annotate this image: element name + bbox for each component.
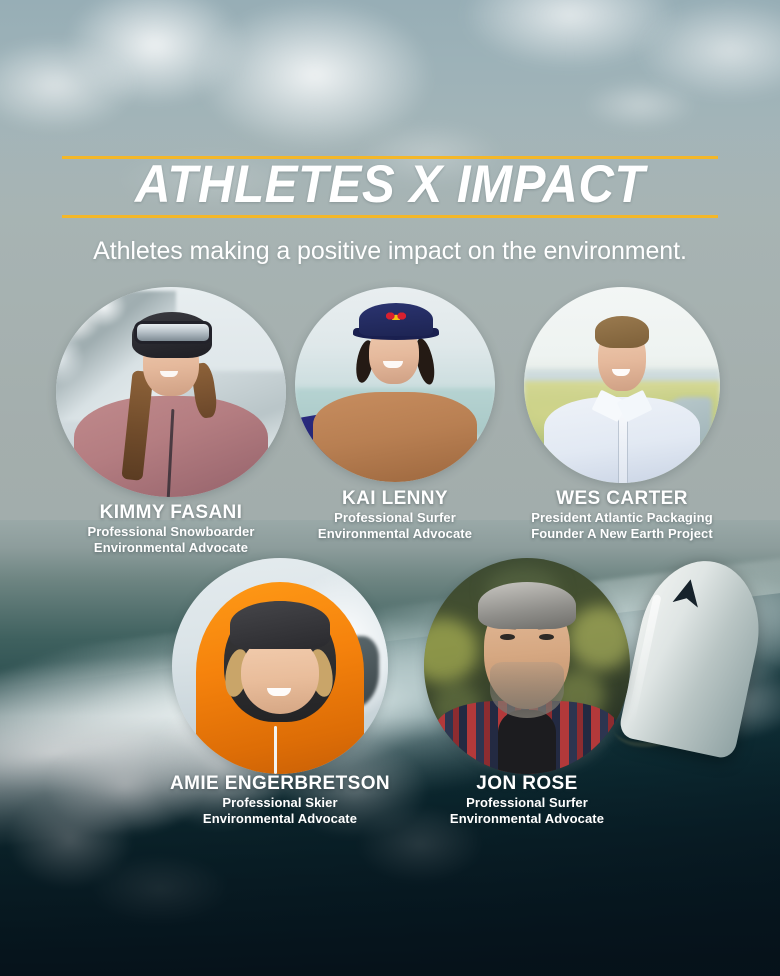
hair: [595, 316, 650, 347]
wave-deep-shadow: [0, 716, 780, 976]
athlete-caption: WES CARTER President Atlantic Packaging …: [457, 487, 780, 542]
athletes-x-impact-poster: ATHLETES X IMPACT Athletes making a posi…: [0, 0, 780, 976]
bokeh-light: [424, 618, 478, 683]
athlete-photo-kai-lenny: [295, 287, 495, 482]
athlete-caption: JON ROSE Professional Surfer Environment…: [362, 772, 692, 827]
athlete-role-line-2: Environmental Advocate: [6, 540, 336, 556]
beard: [490, 662, 564, 718]
athlete-photo-wes-carter: [524, 287, 720, 483]
avatar[interactable]: [56, 287, 286, 497]
header-rule-bottom: [62, 215, 718, 218]
athlete-photo-amie-engerbretson: [172, 558, 388, 774]
athlete-role-line-2: Founder A New Earth Project: [457, 526, 780, 542]
avatar[interactable]: [524, 287, 720, 483]
bokeh-light: [568, 606, 630, 671]
jacket-zipper: [274, 726, 277, 774]
page-title: ATHLETES X IMPACT: [27, 158, 752, 212]
athlete-role-line-1: President Atlantic Packaging: [457, 510, 780, 526]
athlete-card-wes-carter[interactable]: WES CARTER President Atlantic Packaging …: [524, 287, 720, 483]
athlete-name: JON ROSE: [362, 772, 692, 795]
eye-left: [500, 634, 514, 640]
torso: [313, 392, 477, 482]
hair: [478, 582, 577, 630]
athlete-name: WES CARTER: [457, 487, 780, 510]
page-subtitle: Athletes making a positive impact on the…: [0, 235, 780, 267]
avatar[interactable]: [172, 558, 388, 774]
athlete-role-line-1: Professional Surfer: [362, 795, 692, 811]
athlete-card-amie-engerbretson[interactable]: AMIE ENGERBRETSON Professional Skier Env…: [172, 558, 388, 774]
red-bull-logo-icon: [383, 310, 409, 322]
beanie: [230, 601, 329, 649]
eye-right: [539, 634, 553, 640]
ski-goggles-icon: [134, 321, 212, 344]
avatar[interactable]: [424, 558, 630, 774]
surfboard-logo-icon: [672, 577, 703, 608]
athlete-role-line-2: Environmental Advocate: [362, 811, 692, 827]
athlete-photo-kimmy-fasani: [56, 287, 286, 497]
athlete-photo-jon-rose: [424, 558, 630, 774]
avatar[interactable]: [295, 287, 495, 482]
athlete-card-jon-rose[interactable]: JON ROSE Professional Surfer Environment…: [424, 558, 630, 774]
athlete-card-kai-lenny[interactable]: KAI LENNY Professional Surfer Environmen…: [295, 287, 495, 482]
athlete-card-kimmy-fasani[interactable]: KIMMY FASANI Professional Snowboarder En…: [56, 287, 286, 497]
